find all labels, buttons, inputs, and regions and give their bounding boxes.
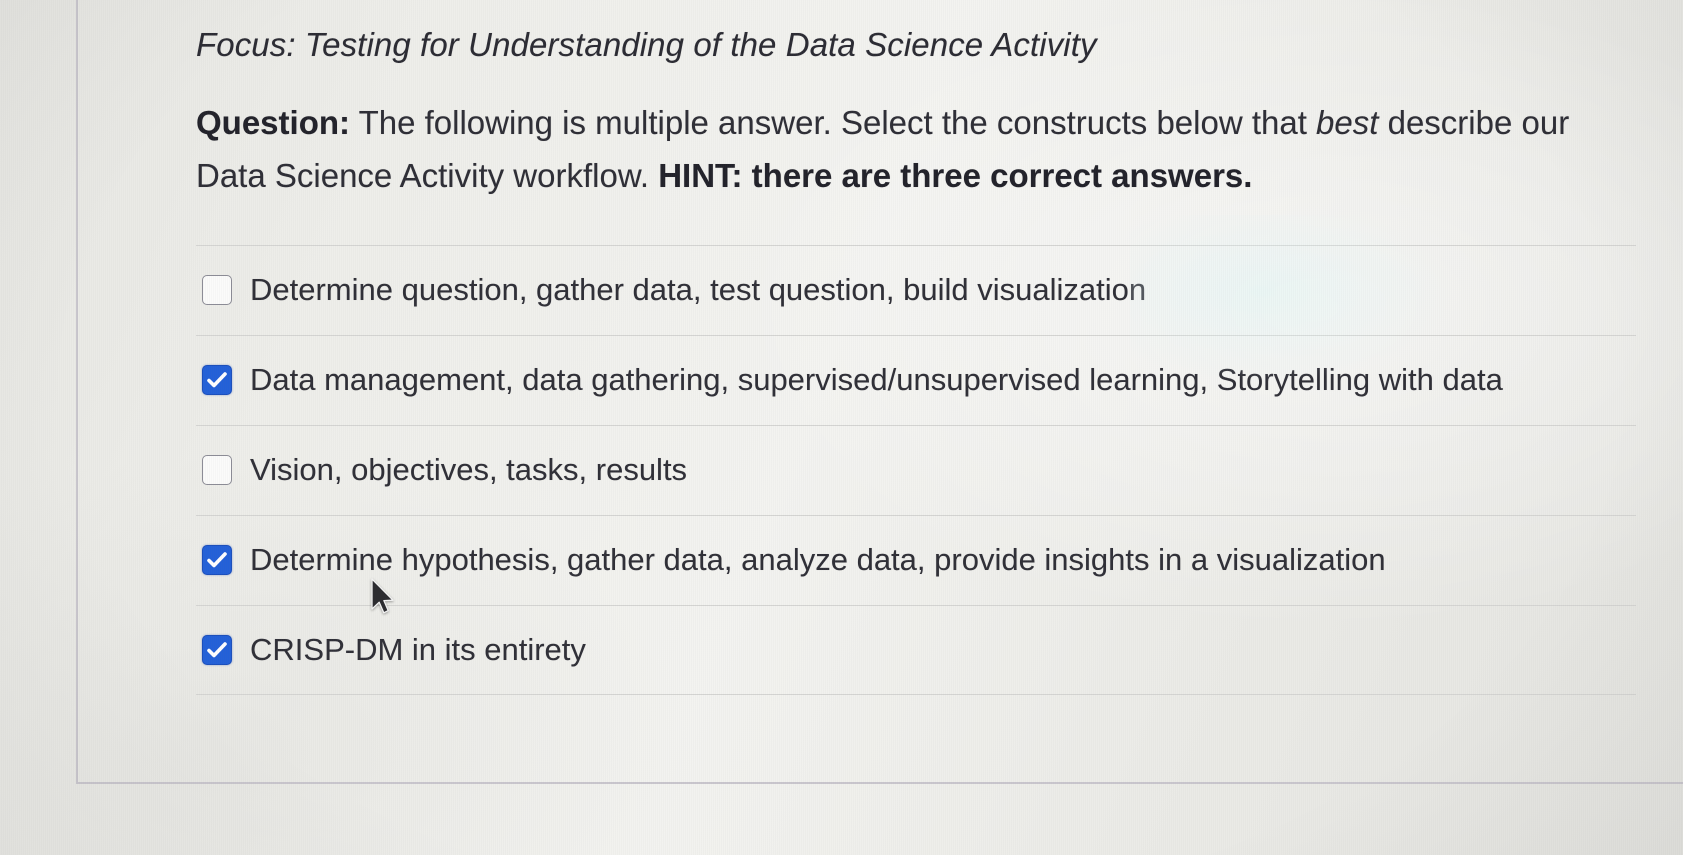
checkbox-checked-icon[interactable]: [202, 365, 232, 395]
option-label-3: Vision, objectives, tasks, results: [250, 452, 687, 488]
checkbox-checked-icon[interactable]: [202, 545, 232, 575]
checkbox-checked-icon[interactable]: [202, 635, 232, 665]
answer-options-list: Determine question, gather data, test qu…: [196, 245, 1636, 695]
question-emphasis: best: [1316, 104, 1378, 141]
question-label: Question:: [196, 104, 350, 141]
option-label-1: Determine question, gather data, test qu…: [250, 272, 1146, 308]
question-text: Question: The following is multiple answ…: [196, 96, 1621, 203]
option-row-5[interactable]: CRISP-DM in its entirety: [196, 605, 1636, 695]
option-row-2[interactable]: Data management, data gathering, supervi…: [196, 335, 1636, 425]
option-row-4[interactable]: Determine hypothesis, gather data, analy…: [196, 515, 1636, 605]
option-label-2: Data management, data gathering, supervi…: [250, 362, 1503, 398]
option-label-5: CRISP-DM in its entirety: [250, 632, 586, 668]
quiz-content: Focus: Testing for Understanding of the …: [196, 26, 1636, 695]
option-label-4: Determine hypothesis, gather data, analy…: [250, 542, 1386, 578]
focus-heading: Focus: Testing for Understanding of the …: [196, 26, 1636, 64]
checkbox-unchecked-icon[interactable]: [202, 275, 232, 305]
question-hint: HINT: there are three correct answers.: [658, 157, 1252, 194]
checkbox-unchecked-icon[interactable]: [202, 455, 232, 485]
quiz-panel: Focus: Testing for Understanding of the …: [76, 0, 1683, 784]
option-row-3[interactable]: Vision, objectives, tasks, results: [196, 425, 1636, 515]
option-row-1[interactable]: Determine question, gather data, test qu…: [196, 245, 1636, 335]
question-part-1: The following is multiple answer. Select…: [350, 104, 1316, 141]
